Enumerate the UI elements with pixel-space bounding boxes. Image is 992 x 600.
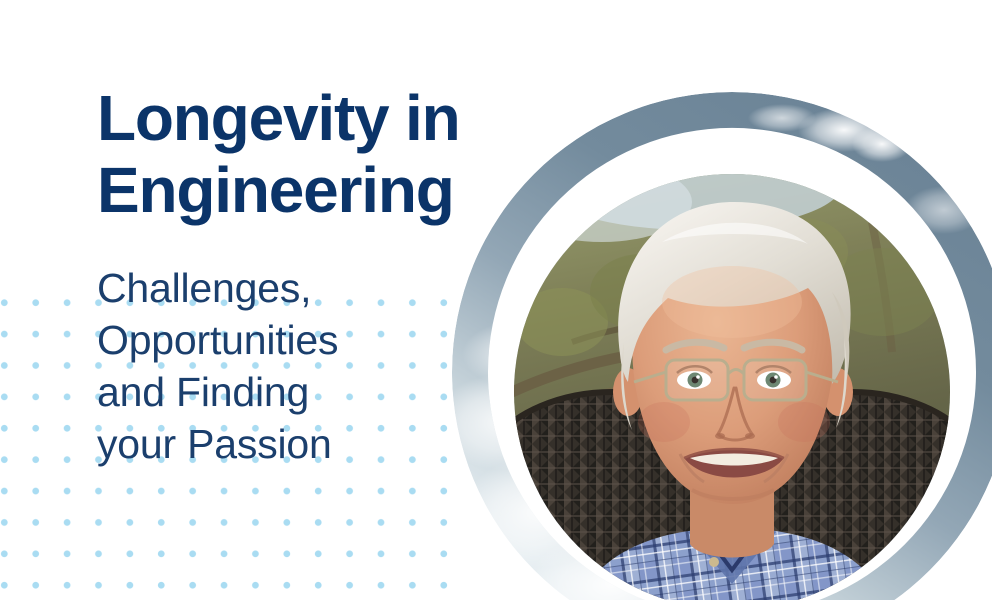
page-subtitle: Challenges, Opportunities and Finding yo…	[97, 226, 460, 470]
portrait-photo	[492, 138, 972, 600]
portrait-graphic	[452, 92, 992, 600]
speaker-portrait	[452, 92, 992, 600]
text-block: Longevity in Engineering Challenges, Opp…	[97, 82, 460, 470]
slide-canvas: Longevity in Engineering Challenges, Opp…	[0, 0, 992, 600]
page-title: Longevity in Engineering	[97, 82, 460, 226]
